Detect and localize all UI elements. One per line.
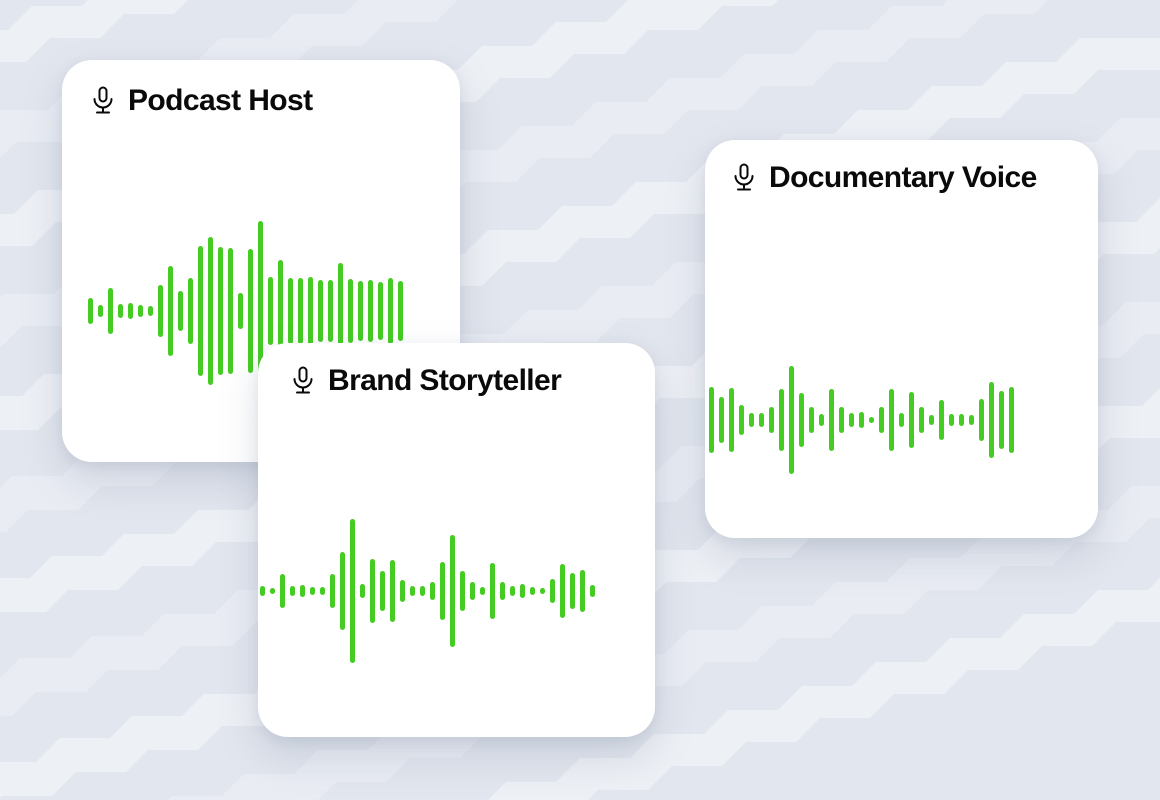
waveform-bar — [128, 303, 133, 319]
waveform-bar — [380, 571, 385, 611]
waveform-bar — [420, 586, 425, 596]
waveform-bar — [228, 248, 233, 374]
waveform-bar — [969, 415, 974, 425]
waveform-bar — [530, 587, 535, 595]
card-title: Brand Storyteller — [328, 366, 561, 396]
waveform-bar — [98, 305, 103, 317]
waveform-bar — [789, 366, 794, 474]
waveform-bar — [288, 278, 293, 344]
waveform-bar — [899, 413, 904, 427]
waveform-bar — [829, 389, 834, 451]
waveform-bar — [340, 552, 345, 630]
waveform-bar — [290, 586, 295, 596]
waveform-bar — [88, 298, 93, 324]
waveform-bar — [769, 407, 774, 433]
waveform-bar — [869, 417, 874, 423]
waveform-bar — [480, 587, 485, 595]
waveform-bar — [500, 582, 505, 600]
waveform-bar — [398, 281, 403, 341]
waveform-bar — [879, 407, 884, 433]
waveform-bar — [188, 278, 193, 344]
waveform-bar — [989, 382, 994, 458]
waveform-bar — [440, 562, 445, 620]
microphone-icon — [290, 366, 316, 396]
waveform-bar — [378, 282, 383, 340]
waveform-bar — [919, 407, 924, 433]
waveform-bar — [318, 280, 323, 342]
waveform-bar — [929, 415, 934, 425]
card-header: Podcast Host — [90, 86, 313, 116]
waveform-bar — [819, 414, 824, 426]
waveform-bar — [719, 397, 724, 443]
waveform-bar — [368, 280, 373, 342]
waveform-bar — [198, 246, 203, 376]
waveform-bar — [390, 560, 395, 622]
waveform-bar — [330, 574, 335, 608]
waveform-bar — [208, 237, 213, 385]
card-title: Podcast Host — [128, 86, 313, 116]
waveform-bar — [939, 400, 944, 440]
waveform-bar — [759, 413, 764, 427]
waveform-bar — [779, 389, 784, 451]
waveform-bar — [560, 564, 565, 618]
waveform-bar — [470, 582, 475, 600]
waveform-bar — [270, 588, 275, 594]
waveform-bar — [999, 391, 1004, 449]
voice-card-documentary-voice[interactable]: Documentary Voice — [705, 140, 1098, 538]
waveform-bar — [310, 587, 315, 595]
waveform-bar — [268, 277, 273, 345]
waveform-bar — [749, 413, 754, 427]
waveform-bar — [1009, 387, 1014, 453]
waveform-bar — [959, 414, 964, 426]
waveform-bar — [450, 535, 455, 647]
canvas: Podcast Host Documentary Voice — [0, 0, 1160, 800]
waveform-bar — [298, 278, 303, 344]
microphone-icon — [90, 86, 116, 116]
waveform-bar — [490, 563, 495, 619]
waveform-bar — [320, 587, 325, 595]
waveform-documentary-voice[interactable] — [709, 305, 1098, 535]
waveform-bar — [248, 249, 253, 373]
waveform-bar — [218, 247, 223, 375]
waveform-bar — [510, 586, 515, 596]
card-header: Documentary Voice — [731, 163, 1037, 193]
waveform-bar — [148, 306, 153, 316]
voice-card-brand-storyteller[interactable]: Brand Storyteller — [258, 343, 655, 737]
waveform-bar — [118, 304, 123, 318]
waveform-bar — [328, 280, 333, 342]
waveform-bar — [570, 573, 575, 609]
waveform-bar — [158, 285, 163, 337]
waveform-bar — [430, 582, 435, 600]
waveform-bar — [280, 574, 285, 608]
waveform-bar — [460, 571, 465, 611]
microphone-icon — [731, 163, 757, 193]
waveform-bar — [178, 291, 183, 331]
waveform-bar — [709, 387, 714, 453]
waveform-bar — [350, 519, 355, 663]
waveform-bar — [979, 399, 984, 441]
waveform-bar — [550, 579, 555, 603]
waveform-bar — [108, 288, 113, 334]
waveform-bar — [580, 570, 585, 612]
waveform-bar — [949, 414, 954, 426]
waveform-bar — [238, 293, 243, 329]
waveform-bar — [799, 393, 804, 447]
waveform-bar — [400, 580, 405, 602]
waveform-bar — [370, 559, 375, 623]
waveform-bar — [540, 588, 545, 594]
card-header: Brand Storyteller — [290, 366, 561, 396]
waveform-bar — [388, 278, 393, 344]
waveform-bar — [590, 585, 595, 597]
waveform-bar — [809, 407, 814, 433]
waveform-bar — [260, 586, 265, 596]
waveform-bar — [300, 585, 305, 597]
waveform-bar — [739, 405, 744, 435]
waveform-bar — [859, 412, 864, 428]
waveform-bar — [849, 413, 854, 427]
waveform-bar — [889, 389, 894, 451]
waveform-bar — [909, 392, 914, 448]
waveform-bar — [729, 388, 734, 452]
waveform-bar — [138, 305, 143, 317]
waveform-bar — [839, 407, 844, 433]
waveform-bar — [410, 586, 415, 596]
waveform-bar — [308, 277, 313, 345]
card-title: Documentary Voice — [769, 163, 1037, 193]
waveform-bar — [360, 584, 365, 598]
waveform-bar — [520, 584, 525, 598]
waveform-bar — [168, 266, 173, 356]
waveform-brand-storyteller[interactable] — [260, 460, 655, 722]
waveform-bar — [358, 281, 363, 341]
waveform-bar — [348, 279, 353, 343]
